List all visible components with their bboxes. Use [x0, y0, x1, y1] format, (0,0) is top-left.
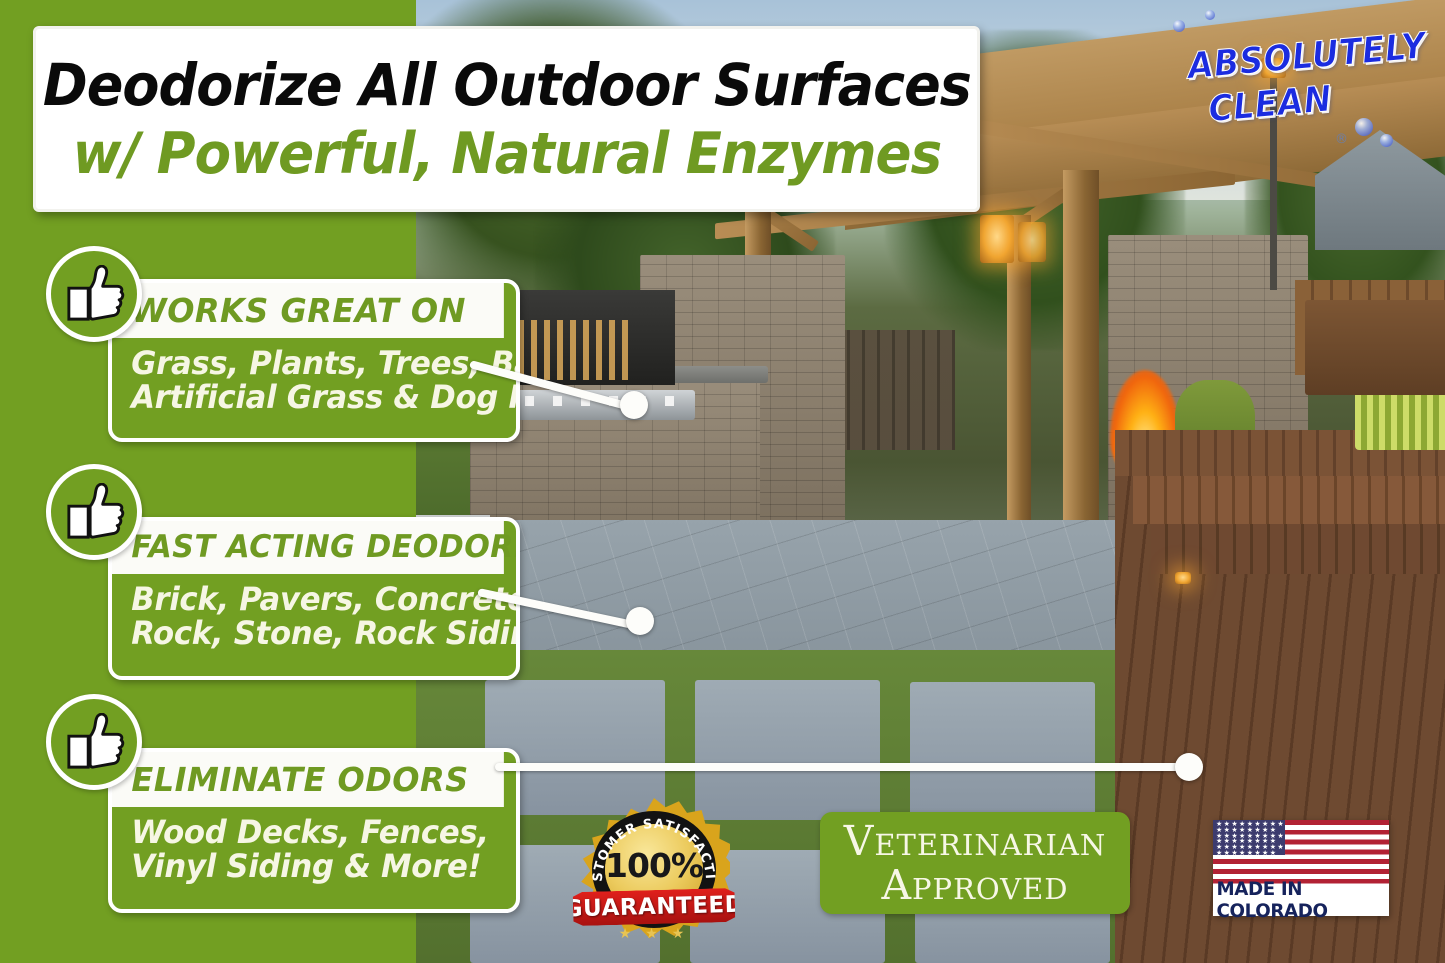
vet-badge-line-2: Approved — [881, 865, 1068, 906]
thumbs-up-icon — [63, 483, 125, 541]
feature-body-2: Brick, Pavers, Concrete, Rock, Stone, Ro… — [112, 574, 516, 663]
bubble-icon-3 — [1173, 20, 1185, 32]
feature-heading-3: ELIMINATE ODORS — [112, 752, 504, 807]
headline-line-1: Deodorize All Outdoor Surfaces — [42, 56, 970, 114]
feature-body-1-line-2: Artificial Grass & Dog Runs — [112, 381, 500, 427]
pavilion-post-center — [1007, 215, 1031, 545]
satisfaction-guarantee-badge: CUSTOMER SATISFACTION 100% GUARANTEED ★ … — [578, 798, 730, 941]
guarantee-ribbon-label: GUARANTEED — [563, 892, 744, 923]
deck-step-3 — [1151, 524, 1445, 574]
callout-connector-dot-1 — [620, 391, 648, 419]
headline-box: Deodorize All Outdoor Surfaces w/ Powerf… — [33, 26, 980, 212]
callout-connector-dot-3 — [1175, 753, 1203, 781]
registered-trademark-icon: ® — [1335, 132, 1348, 147]
callout-box-1: WORKS GREAT ON Grass, Plants, Trees, Bar… — [108, 279, 520, 442]
bubble-icon-2 — [1380, 134, 1393, 147]
thumbs-up-circle-1 — [46, 246, 142, 342]
us-flag-stars-icon: ★★★★★★★★★ ★★★★★★★★ ★★★★★★★★★ ★★★★★★★★ ★★… — [1213, 820, 1285, 855]
thumbs-up-icon — [63, 713, 125, 771]
feature-heading-1: WORKS GREAT ON — [112, 283, 504, 338]
callout-connector-line-3 — [495, 763, 1195, 771]
callout-connector-dot-2 — [626, 607, 654, 635]
stepping-stone-3 — [910, 682, 1095, 827]
thumbs-up-circle-2 — [46, 464, 142, 560]
hanging-lantern-2 — [1018, 222, 1046, 262]
product-infographic-poster: Deodorize All Outdoor Surfaces w/ Powerf… — [0, 0, 1445, 963]
feature-body-2-line-1: Brick, Pavers, Concrete, — [112, 574, 500, 617]
made-in-colorado-caption: MADE IN COLORADO — [1217, 884, 1386, 916]
deck-planter — [1305, 300, 1445, 395]
veterinarian-approved-badge: Veterinarian Approved — [820, 812, 1130, 914]
thumbs-up-circle-3 — [46, 694, 142, 790]
headline-line-2: w/ Powerful, Natural Enzymes — [72, 126, 941, 183]
guarantee-ribbon: GUARANTEED — [573, 888, 736, 926]
guarantee-percent: 100% — [578, 846, 730, 885]
feature-body-3-line-2: Vinyl Siding & More! — [112, 850, 500, 896]
brand-logo: ABSOLUTELY CLEAN ® — [1175, 36, 1415, 154]
feature-body-1: Grass, Plants, Trees, Bark, Artificial G… — [112, 338, 516, 427]
feature-body-3: Wood Decks, Fences, Vinyl Siding & More! — [112, 807, 516, 896]
thumbs-up-icon — [63, 265, 125, 323]
planter-greenery — [1355, 388, 1445, 450]
guarantee-stars-icon: ★ ★ ★ — [578, 925, 730, 942]
made-in-colorado-badge: ★★★★★★★★★ ★★★★★★★★ ★★★★★★★★★ ★★★★★★★★ ★★… — [1213, 820, 1389, 916]
callout-box-3: ELIMINATE ODORS Wood Decks, Fences, Viny… — [108, 748, 520, 913]
deck-step-light — [1175, 572, 1191, 584]
hanging-lantern — [980, 215, 1014, 263]
deck-step-2 — [1133, 476, 1445, 524]
feature-body-2-line-2: Rock, Stone, Rock Siding — [112, 617, 500, 663]
feature-body-1-line-1: Grass, Plants, Trees, Bark, — [112, 338, 500, 381]
feature-body-3-line-1: Wood Decks, Fences, — [112, 807, 500, 850]
brand-name-line-2: CLEAN — [1207, 79, 1334, 131]
callout-box-2: FAST ACTING DEODORIZER Brick, Pavers, Co… — [108, 517, 520, 680]
bubble-icon-4 — [1205, 10, 1215, 20]
vet-badge-line-1: Veterinarian — [844, 821, 1107, 862]
feature-heading-2: FAST ACTING DEODORIZER — [112, 521, 504, 574]
bubble-icon-1 — [1355, 118, 1373, 136]
bottle-cluster — [505, 320, 635, 380]
